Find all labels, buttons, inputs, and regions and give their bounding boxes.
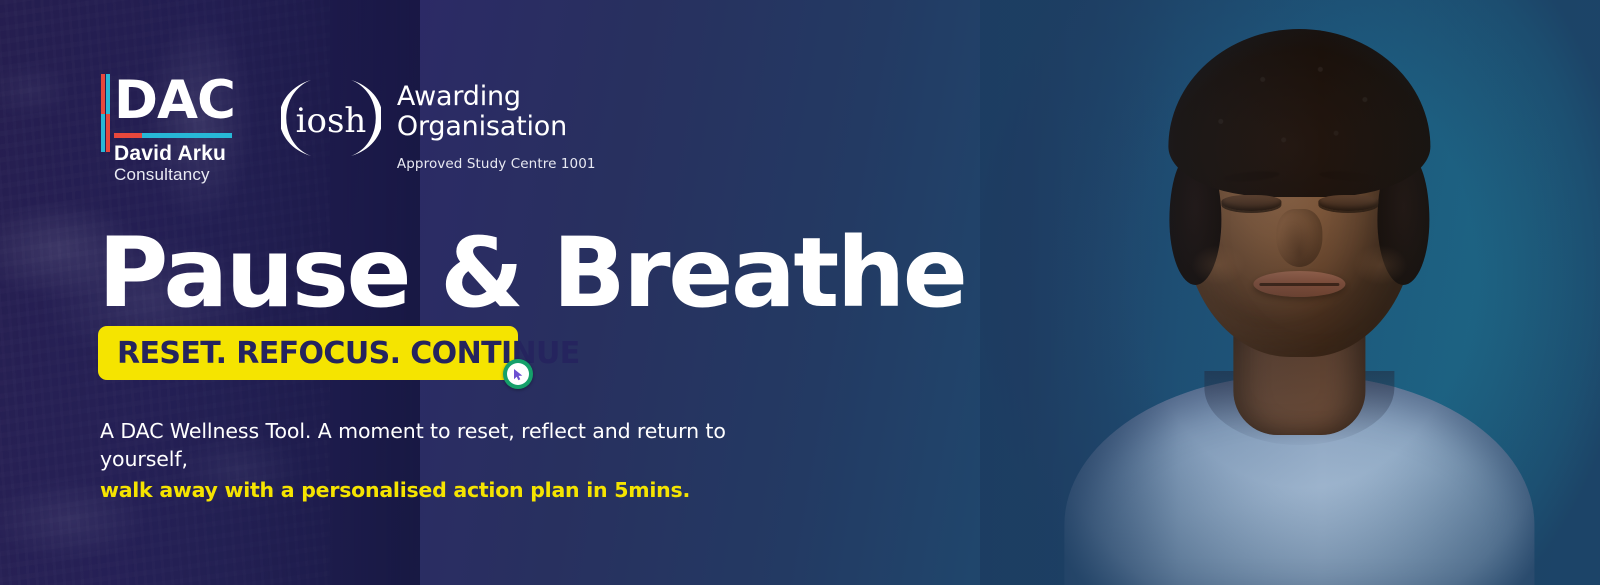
iosh-logo: iosh Awarding Organisation Approved Stud…: [281, 74, 596, 172]
portrait-cheek-right: [1353, 245, 1407, 285]
iosh-approved-centre: Approved Study Centre 1001: [397, 156, 596, 172]
dac-name: David Arku: [114, 143, 235, 165]
portrait-nose: [1276, 209, 1322, 267]
dac-divider-rule: [114, 133, 232, 138]
page-title: Pause & Breathe: [98, 223, 965, 323]
body-line-1: A DAC Wellness Tool. A moment to reset, …: [100, 417, 800, 473]
iosh-mark-icon: iosh: [281, 74, 381, 162]
dac-logo: DAC David Arku Consultancy: [101, 72, 235, 184]
body-copy: A DAC Wellness Tool. A moment to reset, …: [100, 417, 800, 503]
body-line-2: walk away with a personalised action pla…: [100, 477, 800, 503]
portrait-figure: [1064, 25, 1534, 585]
cursor-badge-inner: [507, 363, 529, 385]
portrait-lips: [1253, 271, 1345, 297]
dac-subtitle: Consultancy: [114, 165, 235, 184]
tagline-pill: RESET. REFOCUS. CONTINUE: [98, 326, 518, 380]
portrait-eye-left: [1221, 195, 1281, 211]
iosh-line-2: Organisation: [397, 112, 596, 142]
hero-banner: DAC David Arku Consultancy iosh Awar: [0, 0, 1600, 585]
dac-letters: DAC: [114, 72, 235, 129]
portrait-image: [980, 0, 1600, 585]
portrait-cheek-left: [1191, 245, 1245, 285]
logo-row: DAC David Arku Consultancy iosh Awar: [101, 72, 596, 184]
iosh-text-block: Awarding Organisation Approved Study Cen…: [397, 74, 596, 172]
svg-text:iosh: iosh: [296, 101, 367, 141]
hero-content: DAC David Arku Consultancy iosh Awar: [0, 0, 900, 585]
cursor-arrow-icon[interactable]: [503, 359, 533, 389]
portrait-eye-right: [1318, 195, 1378, 211]
portrait-hair: [1168, 29, 1430, 197]
iosh-line-1: Awarding: [397, 82, 596, 112]
dac-accent-bars: [101, 74, 110, 152]
